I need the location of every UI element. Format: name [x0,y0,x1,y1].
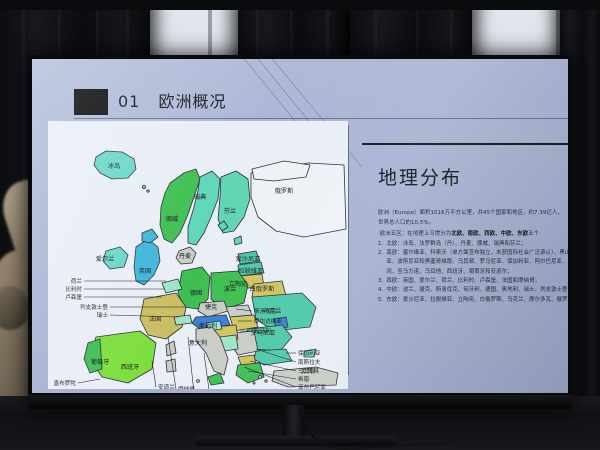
map-label-5: 丹麦 [179,252,191,260]
map-label-14: 西班牙 [121,363,140,371]
region-item-text: 东欧：爱沙尼亚、拉脱维亚、立陶宛、白俄罗斯、乌克兰、摩尔多瓦、俄罗斯和哈萨克斯坦… [386,296,568,305]
intro-line-1: 欧洲（Europe）面积1016万平方公里，共45个国家和地区，约7.39亿人， [378,209,568,218]
map-label-12: 奥地利 [199,322,218,330]
map-label-6: 爱尔兰 [96,255,115,263]
map-leader-label-10: 斯洛伐克 [254,307,277,315]
title-underline [74,118,568,119]
map-label-1: 挪威 [166,215,178,223]
region-list: 1.北欧：冰岛、法罗群岛（丹）、丹麦、挪威、瑞典和芬兰；2.南欧：塞尔维亚、科索… [378,240,568,305]
region-item-5: 5.东欧：爱沙尼亚、拉脱维亚、立陶宛、白俄罗斯、乌克兰、摩尔多瓦、俄罗斯和哈萨克… [378,296,568,305]
map-leader-label-0: 荷兰 [71,277,83,285]
region-item-text: 西欧：英国、爱尔兰、荷兰、比利时、卢森堡、法国和摩纳哥； [386,277,568,286]
europe-map: 冰岛挪威瑞典芬兰俄罗斯丹麦爱尔兰英国法国德国波兰捷克奥地利意大利西班牙葡萄牙爱沙… [48,121,348,389]
map-label-18: 立陶宛 [229,280,248,288]
section-heading: 地理分布 [378,163,462,190]
presentation-slide: 01 欧洲概况 [32,59,568,393]
map-leader-label-4: 瑞士 [97,311,109,319]
map-leader-label-1: 比利时 [65,285,82,293]
region-item-number: 5. [378,296,383,305]
map-label-9: 德国 [190,289,202,297]
map-leader-label-5: 直布罗陀 [54,379,77,387]
map-leader-label-16: 希腊 [298,375,310,383]
map-leader-label-3: 列支敦士登 [80,303,108,311]
five-regions-line: ·欧洲五区：在地理上习惯分为北欧、南欧、西欧、中欧、东欧五个 [378,230,568,239]
map-label-0: 冰岛 [108,162,120,170]
map-label-16: 爱沙尼亚 [236,255,261,263]
region-item-4: 4.中欧：波兰、捷克、斯洛伐克、匈牙利、德国、奥地利、瑞士、列支敦士登； [378,286,568,295]
map-leader-label-13: 保加利亚 [298,349,321,357]
five-regions-suffix: 五个 [528,231,539,237]
slide-title-row: 01 欧洲概况 [32,87,568,117]
region-item-3: 3.西欧：英国、爱尔兰、荷兰、比利时、卢森堡、法国和摩纳哥； [378,277,568,286]
power-cable [299,400,453,450]
five-regions-bold: 北欧、南欧、西欧、中欧、东欧 [451,231,528,237]
curtain-rail [0,0,600,10]
section-body: 欧洲（Europe）面积1016万平方公里，共45个国家和地区，约7.39亿人，… [378,209,568,305]
map-label-2: 瑞典 [194,193,206,201]
map-label-15: 葡萄牙 [91,358,110,366]
map-label-13: 意大利 [189,339,208,347]
map-leader-label-15: 马其顿 [298,367,315,375]
map-label-3: 芬兰 [224,207,236,215]
region-item-1: 1.北欧：冰岛、法罗群岛（丹）、丹麦、挪威、瑞典和芬兰； [378,240,568,249]
region-item-2: 2.南欧：塞尔维亚、科索沃（单方面宣布独立，未获国际社会广泛承认）、黑山、克罗地… [378,249,568,277]
region-item-text: 北欧：冰岛、法罗群岛（丹）、丹麦、挪威、瑞典和芬兰； [386,240,568,249]
map-leader-label-2: 卢森堡 [65,293,82,301]
region-item-text: 南欧：塞尔维亚、科索沃（单方面宣布独立，未获国际社会广泛承认）、黑山、克罗地亚、… [386,249,568,277]
map-label-19: 白俄罗斯 [250,285,275,293]
title-number: 01 [118,92,140,111]
map-leader-label-12: 匈牙利 [254,327,271,335]
map-leader-label-14: 南斯拉夫 [298,358,321,366]
map-label-7: 英国 [139,267,151,275]
title-accent-block [74,89,108,115]
title-label: 欧洲概况 [159,92,227,111]
panel-divider [348,125,349,375]
intro-line-2: 世界总人口的10.5%。 [378,219,568,228]
map-leader-label-11: 摩尔达维亚 [254,317,282,325]
map-label-4: 俄罗斯 [275,187,294,195]
region-item-number: 1. [378,240,383,249]
europe-map-svg: 冰岛挪威瑞典芬兰俄罗斯丹麦爱尔兰英国法国德国波兰捷克奥地利意大利西班牙葡萄牙爱沙… [48,121,348,389]
right-panel-rule [362,143,568,145]
photo-scene: 01 欧洲概况 [0,0,600,450]
map-label-17: 拉脱维亚 [239,267,264,275]
region-item-number: 4. [378,286,383,295]
five-regions-prefix: ·欧洲五区：在地理上习惯分为 [378,231,451,237]
page-title: 01 欧洲概况 [118,88,227,112]
region-item-text: 中欧：波兰、捷克、斯洛伐克、匈牙利、德国、奥地利、瑞士、列支敦士登； [386,286,568,295]
map-label-11: 捷克 [205,303,217,311]
region-item-number: 2. [378,249,383,277]
region-item-number: 3. [378,277,383,286]
